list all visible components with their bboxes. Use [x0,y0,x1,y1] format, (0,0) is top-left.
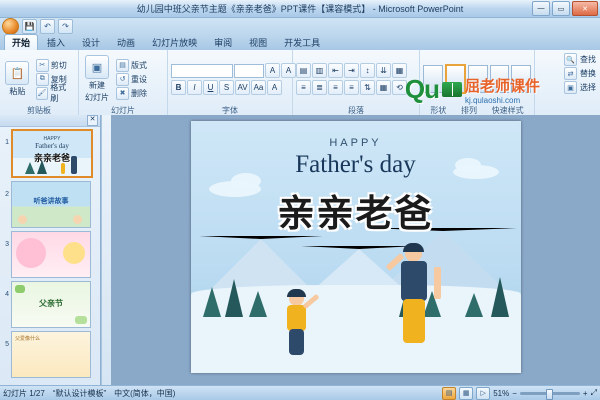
tab-developer[interactable]: 开发工具 [276,34,328,50]
father-pants [403,299,425,343]
new-slide-icon: ▣ [85,55,109,79]
child-shirt [287,305,306,331]
slide-number: 1 [2,129,9,178]
slide-thumbnail-1[interactable]: 1 HAPPY Father's day 亲亲老爸 [2,129,100,178]
font-color-button[interactable]: A [267,80,282,95]
underline-button[interactable]: U [203,80,218,95]
father-torso [401,261,427,301]
slide-number: 5 [2,331,9,378]
find-button[interactable]: 🔍 查找 [564,53,596,66]
book-icon [442,82,462,97]
slide-title: 听爸讲故事 [12,196,90,206]
slides-pane-scrollbar[interactable] [101,115,111,386]
slide-number: 4 [2,281,9,328]
quick-access-toolbar: 💾 ↶ ↷ [0,18,600,35]
scissors-icon: ✂ [36,59,49,72]
slide-preview[interactable]: HAPPY Father's day 亲亲老爸 [11,129,93,178]
tab-animations[interactable]: 动画 [109,34,143,50]
shadow-button[interactable]: S [219,80,234,95]
slide-chinese-title[interactable]: 亲亲老爸 [191,183,521,237]
replace-label: 替换 [580,68,596,79]
layout-button[interactable]: ▤ 版式 [114,59,149,72]
status-right: ▤ ▦ ▷ 51% − + ⤢ [442,387,597,400]
font-row-2: B I U S AV Aa A [171,80,282,95]
window-controls: — ▭ ✕ [532,1,598,16]
zoom-in-button[interactable]: + [583,389,588,398]
new-slide-button[interactable]: ▣ 新建 幻灯片 [82,55,112,103]
bold-button[interactable]: B [171,80,186,95]
paste-icon: 📋 [5,61,29,85]
reset-button[interactable]: ↺ 重设 [114,73,149,86]
tree-shape [249,291,267,317]
format-painter-button[interactable]: 🖌 格式刷 [34,87,75,100]
title-bar: 幼儿园中班父亲节主题《亲亲老爸》PPT课件【课容模式】 - Microsoft … [0,0,600,18]
slide-thumbnail-3[interactable]: 3 [2,231,100,278]
slide-number: 2 [2,181,9,228]
character-spacing-button[interactable]: AV [235,80,250,95]
undo-icon[interactable]: ↶ [40,19,55,34]
tab-slideshow[interactable]: 幻灯片放映 [144,34,205,50]
paste-button[interactable]: 📋 粘贴 [3,61,32,97]
logo-url: kj.qulaoshi.com [465,96,540,105]
decrease-indent-button[interactable]: ⇤ [328,63,343,78]
ribbon-group-slides: ▣ 新建 幻灯片 ▤ 版式 ↺ 重设 ✖ 删除 [79,50,168,116]
slide-headline-text[interactable]: Father's day [191,151,521,179]
language-indicator[interactable]: 中文(简体，中国) [114,388,175,399]
office-button[interactable] [2,18,19,35]
cut-button[interactable]: ✂ 剪切 [34,59,75,72]
line-spacing-button[interactable]: ↕ [360,63,375,78]
columns-button[interactable]: ⇅ [360,80,375,95]
new-slide-label: 新建 [89,80,105,91]
child-pants [289,329,304,355]
ribbon-group-clipboard: 📋 粘贴 ✂ 剪切 ⧉ 复制 🖌 格式刷 [0,50,79,116]
minimize-button[interactable]: — [532,1,550,16]
font-name-input[interactable] [171,64,233,78]
justify-button[interactable]: ≡ [344,80,359,95]
workspace: ✕ 1 HAPPY Father's day 亲亲老爸 [0,115,600,386]
align-right-button[interactable]: ≡ [328,80,343,95]
align-left-button[interactable]: ≡ [296,80,311,95]
italic-button[interactable]: I [187,80,202,95]
theme-name: “默认设计模板” [53,388,106,399]
slide-editor-stage[interactable]: HAPPY Father's day 亲亲老爸 [111,115,600,386]
logo-chinese-text: 屈老师课件 [465,75,540,96]
powerpoint-window: 幼儿园中班父亲节主题《亲亲老爸》PPT课件【课容模式】 - Microsoft … [0,0,600,400]
slide-title: 父爱像什么 [15,335,40,342]
slide-preview[interactable]: 听爸讲故事 [11,181,91,228]
slide-number: 3 [2,231,9,278]
paragraph-row-2: ≡ ≣ ≡ ≡ ⇅ ▦ ⟲ [296,80,407,95]
child-figure [283,291,311,357]
close-button[interactable]: ✕ [572,1,598,16]
maximize-button[interactable]: ▭ [552,1,570,16]
father-figure [395,245,435,357]
select-icon: ▣ [564,81,577,94]
align-center-button[interactable]: ≣ [312,80,327,95]
zoom-slider-knob[interactable] [546,389,553,400]
slide-thumbnail-4[interactable]: 4 父亲节 [2,281,100,328]
slide-title: 父亲节 [12,298,90,309]
fit-to-window-button[interactable]: ⤢ [591,388,597,398]
tab-home[interactable]: 开始 [4,34,38,50]
tree-shape [465,293,483,317]
select-label: 选择 [580,82,596,93]
format-painter-label: 格式刷 [50,82,73,104]
sorter-view-button[interactable]: ▦ [459,387,473,400]
father-arm [434,267,441,299]
zoom-out-button[interactable]: − [512,389,517,398]
paste-label: 粘贴 [9,86,25,97]
tree-shape [203,287,221,317]
tab-insert[interactable]: 插入 [39,34,73,50]
slide-thumbnail-5[interactable]: 5 父爱像什么 [2,331,100,378]
layout-label: 版式 [131,60,147,71]
tree-shape [225,279,243,317]
delete-slide-button[interactable]: ✖ 删除 [114,87,149,100]
tab-design[interactable]: 设计 [74,34,108,50]
brush-icon: 🖌 [36,87,48,100]
redo-icon[interactable]: ↷ [58,19,73,34]
slide-thumbnail-list[interactable]: 1 HAPPY Father's day 亲亲老爸 2 听爸讲故事 [0,127,100,386]
slide-preview[interactable]: 父爱像什么 [11,331,91,378]
ribbon-tabs: 开始 插入 设计 动画 幻灯片放映 审阅 视图 开发工具 [0,35,600,50]
delete-label: 删除 [131,88,147,99]
slideshow-view-button[interactable]: ▷ [476,387,490,400]
slide-canvas[interactable]: HAPPY Father's day 亲亲老爸 [191,121,521,373]
close-icon[interactable]: ✕ [87,115,98,126]
replace-button[interactable]: ⇄ 替换 [564,67,596,80]
slide-thumbnail-2[interactable]: 2 听爸讲故事 [2,181,100,228]
replace-icon: ⇄ [564,67,577,80]
slides-pane: ✕ 1 HAPPY Father's day 亲亲老爸 [0,115,101,386]
paragraph-row-1: ▤ ▥ ⇤ ⇥ ↕ ⇊ ▦ [296,63,407,78]
slide-happy-text[interactable]: HAPPY [191,137,521,149]
change-case-button[interactable]: Aa [251,80,266,95]
find-label: 查找 [580,54,596,65]
ribbon-group-editing: 🔍 查找 ⇄ 替换 ▣ 选择 [560,50,600,116]
delete-icon: ✖ [116,87,129,100]
child-hair [287,289,306,297]
watermark-logo: Qu 屈老师课件 kj.qulaoshi.com [405,74,540,105]
new-slide-label2: 幻灯片 [85,92,109,103]
layout-icon: ▤ [116,59,129,72]
bullets-button[interactable]: ▤ [296,63,311,78]
logo-qu-text: Qu [405,74,439,105]
grow-font-button[interactable]: A [265,63,280,78]
search-icon: 🔍 [564,53,577,66]
ribbon: 📋 粘贴 ✂ 剪切 ⧉ 复制 🖌 格式刷 [0,50,600,117]
tab-view[interactable]: 视图 [241,34,275,50]
reset-icon: ↺ [116,73,129,86]
status-bar: 幻灯片 1/27 “默认设计模板” 中文(简体，中国) ▤ ▦ ▷ 51% − … [0,385,600,400]
copy-icon: ⧉ [36,73,49,86]
font-row-1: A A [171,63,296,78]
reset-label: 重设 [131,74,147,85]
ribbon-group-font: A A B I U S AV Aa A 字体 [168,50,293,116]
increase-indent-button[interactable]: ⇥ [344,63,359,78]
select-button[interactable]: ▣ 选择 [564,81,596,94]
slide-preview[interactable] [11,231,91,278]
cut-label: 剪切 [51,60,67,71]
text-direction-button[interactable]: ⇊ [376,63,391,78]
numbering-button[interactable]: ▥ [312,63,327,78]
smartart-button[interactable]: ▦ [376,80,391,95]
tab-review[interactable]: 审阅 [206,34,240,50]
zoom-slider[interactable] [520,392,580,395]
window-title: 幼儿园中班父亲节主题《亲亲老爸》PPT课件【课容模式】 - Microsoft … [137,2,464,15]
save-icon[interactable]: 💾 [22,19,37,34]
normal-view-button[interactable]: ▤ [442,387,456,400]
zoom-level: 51% [493,389,509,398]
father-hair [403,243,424,252]
tree-shape [491,277,509,317]
slide-indicator: 幻灯片 1/27 [3,388,45,399]
ribbon-group-paragraph: ▤ ▥ ⇤ ⇥ ↕ ⇊ ▦ ≡ ≣ ≡ ≡ ⇅ ▦ ⟲ 段落 [293,50,420,116]
font-size-input[interactable] [234,64,264,78]
slide-preview[interactable]: 父亲节 [11,281,91,328]
slides-pane-header: ✕ [0,115,100,127]
